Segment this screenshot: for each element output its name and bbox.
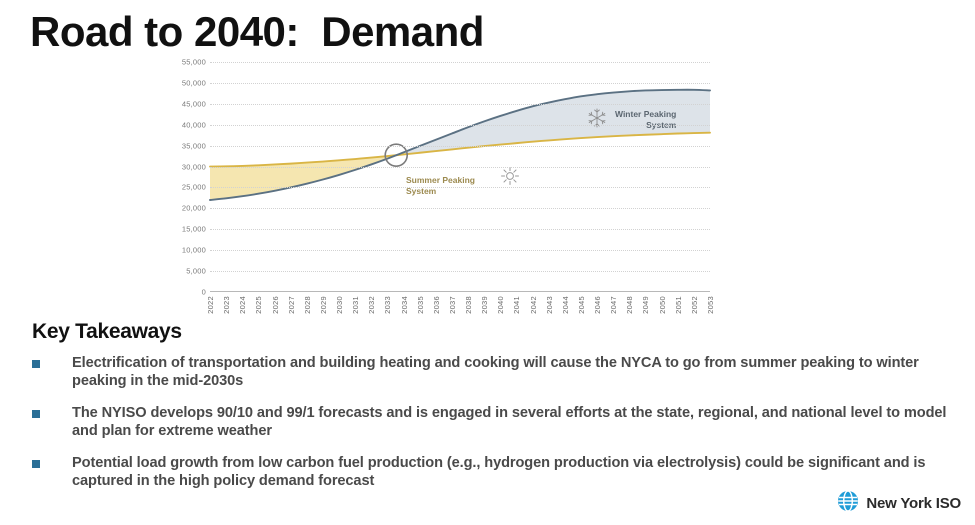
- x-axis-tick-label: 2049: [641, 296, 650, 314]
- x-axis-tick-label: 2026: [271, 296, 280, 314]
- chart-gridline: [210, 187, 710, 188]
- chart-gridline: [210, 146, 710, 147]
- winter-peaking-label: Winter Peaking System: [615, 109, 676, 130]
- chart-gridline: [210, 271, 710, 272]
- x-axis-tick-label: 2046: [593, 296, 602, 314]
- x-axis-tick-label: 2043: [545, 296, 554, 314]
- bullet-square-icon: [32, 410, 40, 418]
- x-axis-tick-label: 2037: [448, 296, 457, 314]
- nyiso-logo: New York ISO: [837, 490, 961, 517]
- x-axis-tick-label: 2029: [319, 296, 328, 314]
- y-axis-tick-label: 15,000: [182, 225, 206, 234]
- x-axis-tick-label: 2027: [287, 296, 296, 314]
- page-title: Road to 2040: Demand: [30, 8, 484, 56]
- x-axis-tick-label: 2023: [222, 296, 231, 314]
- x-axis-tick-label: 2047: [609, 296, 618, 314]
- chart-gridline: [210, 167, 710, 168]
- chart-gridline: [210, 125, 710, 126]
- bullet-square-icon: [32, 360, 40, 368]
- bullet-square-icon: [32, 460, 40, 468]
- y-axis-tick-label: 35,000: [182, 141, 206, 150]
- x-axis-tick-label: 2030: [335, 296, 344, 314]
- x-axis-tick-label: 2051: [674, 296, 683, 314]
- takeaway-bullet-item: The NYISO develops 90/10 and 99/1 foreca…: [32, 404, 952, 441]
- x-axis-tick-label: 2028: [303, 296, 312, 314]
- y-axis-tick-label: 20,000: [182, 204, 206, 213]
- x-axis-tick-label: 2033: [383, 296, 392, 314]
- x-axis-tick-label: 2042: [529, 296, 538, 314]
- snowflake-icon: [586, 107, 608, 134]
- x-axis-tick-label: 2044: [561, 296, 570, 314]
- takeaway-bullet-item: Potential load growth from low carbon fu…: [32, 454, 952, 491]
- demand-forecast-chart: 55,00050,00045,00040,00035,00030,00025,0…: [175, 52, 720, 322]
- x-axis-tick-label: 2052: [690, 296, 699, 314]
- x-axis-tick-label: 2032: [367, 296, 376, 314]
- takeaway-bullet-text: Potential load growth from low carbon fu…: [72, 454, 952, 491]
- x-axis-tick-label: 2050: [658, 296, 667, 314]
- x-axis-tick-label: 2045: [577, 296, 586, 314]
- chart-x-axis: 2022202320242025202620272028202920302031…: [210, 294, 710, 334]
- x-axis-tick-label: 2048: [625, 296, 634, 314]
- chart-gridline: [210, 104, 710, 105]
- key-takeaways-list: Electrification of transportation and bu…: [32, 354, 952, 503]
- x-axis-tick-label: 2036: [432, 296, 441, 314]
- chart-y-axis: 55,00050,00045,00040,00035,00030,00025,0…: [175, 52, 210, 302]
- chart-gridline: [210, 62, 710, 63]
- takeaway-bullet-text: The NYISO develops 90/10 and 99/1 foreca…: [72, 404, 952, 441]
- x-axis-tick-label: 2035: [416, 296, 425, 314]
- chart-gridline: [210, 208, 710, 209]
- chart-gridline: [210, 229, 710, 230]
- y-axis-tick-label: 50,000: [182, 78, 206, 87]
- nyiso-logo-text: New York ISO: [866, 495, 961, 512]
- globe-icon: [837, 490, 859, 517]
- y-axis-tick-label: 25,000: [182, 183, 206, 192]
- x-axis-tick-label: 2039: [480, 296, 489, 314]
- key-takeaways-heading: Key Takeaways: [32, 320, 182, 344]
- y-axis-tick-label: 5,000: [186, 267, 206, 276]
- chart-plot-area: Summer Peaking System Winter Peaking Sys…: [210, 62, 710, 292]
- x-axis-tick-label: 2025: [254, 296, 263, 314]
- x-axis-tick-label: 2024: [238, 296, 247, 314]
- x-axis-tick-label: 2034: [400, 296, 409, 314]
- summer-peaking-label: Summer Peaking System: [406, 175, 475, 196]
- takeaway-bullet-item: Electrification of transportation and bu…: [32, 354, 952, 391]
- x-axis-tick-label: 2040: [496, 296, 505, 314]
- x-axis-tick-label: 2022: [206, 296, 215, 314]
- chart-gridline: [210, 250, 710, 251]
- y-axis-tick-label: 30,000: [182, 162, 206, 171]
- x-axis-tick-label: 2038: [464, 296, 473, 314]
- takeaway-bullet-text: Electrification of transportation and bu…: [72, 354, 952, 391]
- x-axis-tick-label: 2053: [706, 296, 715, 314]
- y-axis-tick-label: 10,000: [182, 246, 206, 255]
- y-axis-tick-label: 40,000: [182, 120, 206, 129]
- y-axis-tick-label: 55,000: [182, 58, 206, 67]
- chart-gridline: [210, 83, 710, 84]
- x-axis-tick-label: 2031: [351, 296, 360, 314]
- y-axis-tick-label: 45,000: [182, 99, 206, 108]
- x-axis-tick-label: 2041: [512, 296, 521, 314]
